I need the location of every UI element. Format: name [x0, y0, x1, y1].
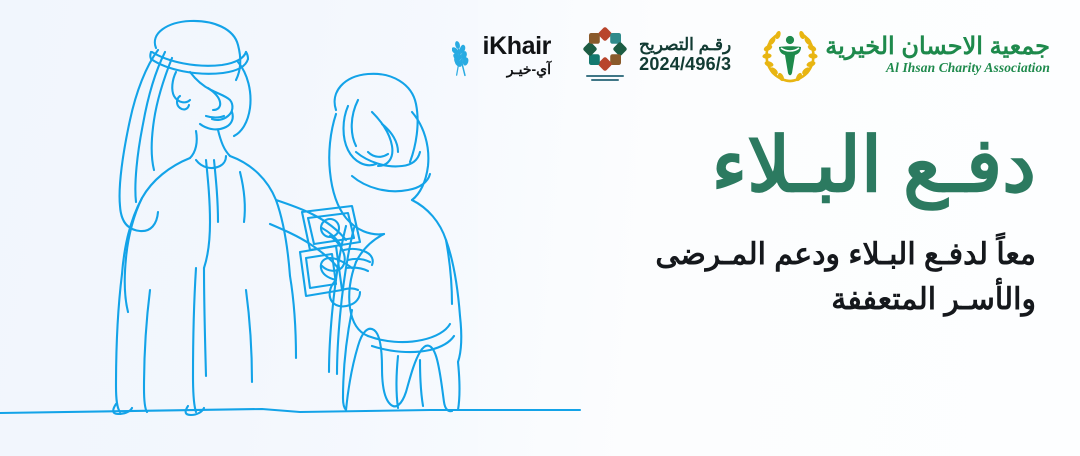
page-title: دفـع البـلاء	[476, 126, 1036, 206]
promotional-banner: iKhair آي-خيـر	[0, 0, 1080, 456]
ikhair-logo[interactable]: iKhair آي-خيـر	[452, 32, 565, 78]
permit-micro-text	[585, 75, 625, 84]
charity-arabic-name: جمعية الاحسان الخيرية	[825, 35, 1050, 59]
al-ihsan-charity-logo[interactable]: جمعية الاحسان الخيرية Al Ihsan Charity A…	[745, 27, 1050, 83]
gcc-floral-rosette-icon	[580, 26, 630, 74]
copy-block: دفـع البـلاء معاً لدفـع البـلاء ودعم الم…	[476, 126, 1036, 323]
page-subtitle: معاً لدفـع البـلاء ودعم المـرضى والأسـر …	[476, 232, 1036, 323]
ikhair-latin-text: iKhair	[483, 34, 551, 59]
logo-strip: iKhair آي-خيـر	[452, 26, 1050, 84]
laurel-wreath-icon	[759, 27, 821, 83]
ikhair-arabic-text: آي-خيـر	[507, 62, 551, 76]
subtitle-line-2: والأسـر المتعففة	[476, 277, 1036, 323]
permit-number-logo[interactable]: رقـم التصريح 2024/496/3	[565, 26, 745, 84]
permit-label: رقـم التصريح	[639, 35, 731, 54]
subtitle-line-1: معاً لدفـع البـلاء ودعم المـرضى	[476, 232, 1036, 278]
wheat-stalks-icon	[452, 32, 478, 78]
permit-number: 2024/496/3	[639, 54, 731, 74]
charity-english-name: Al Ihsan Charity Association	[886, 61, 1050, 75]
